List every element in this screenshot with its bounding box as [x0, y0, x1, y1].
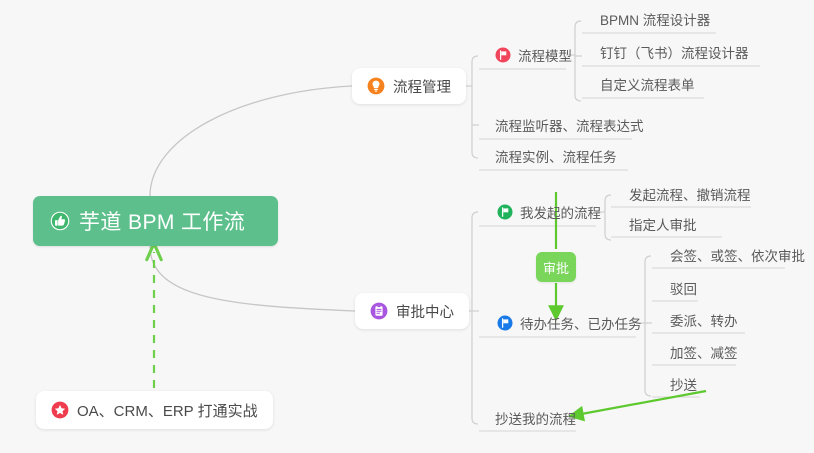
leaf-node-carbon-copy[interactable]: 抄送 — [662, 370, 706, 398]
mindmap-canvas: 芋道 BPM 工作流 流程管理 流程模型 BPMN 流程设计器 钉钉（飞书 — [0, 0, 814, 453]
thumbs-up-circle-icon — [50, 211, 70, 231]
leaf-node-delegate-transfer[interactable]: 委派、转办 — [662, 306, 747, 334]
flag-circle-icon — [497, 315, 513, 331]
star-circle-icon — [51, 401, 69, 419]
branch-node-label: 审批中心 — [396, 301, 454, 322]
branch-node-process-management[interactable]: 流程管理 — [352, 68, 466, 104]
leaf-node-custom-form[interactable]: 自定义流程表单 — [592, 70, 704, 98]
leaf-node-label: 自定义流程表单 — [600, 74, 695, 94]
leaf-node-process-model[interactable]: 流程模型 — [487, 41, 581, 69]
leaf-node-label: BPMN 流程设计器 — [600, 9, 710, 29]
leaf-node-reject[interactable]: 驳回 — [662, 274, 706, 302]
leaf-node-label: 流程模型 — [518, 45, 572, 65]
lightbulb-circle-icon — [367, 77, 385, 95]
clipboard-circle-icon — [370, 302, 388, 320]
leaf-node-label: 驳回 — [670, 278, 697, 298]
tag-node-label: 审批 — [543, 258, 569, 277]
root-node[interactable]: 芋道 BPM 工作流 — [33, 196, 278, 246]
leaf-node-cc-to-me-process[interactable]: 抄送我的流程 — [487, 404, 585, 432]
leaf-node-todo-done-tasks[interactable]: 待办任务、已办任务 — [489, 309, 651, 337]
leaf-node-add-remove-sign[interactable]: 加签、减签 — [662, 338, 747, 366]
leaf-node-label: 流程监听器、流程表达式 — [495, 115, 644, 135]
callout-node-integration[interactable]: OA、CRM、ERP 打通实战 — [36, 391, 273, 429]
leaf-node-bpmn-designer[interactable]: BPMN 流程设计器 — [592, 5, 719, 33]
leaf-node-assignee-approval[interactable]: 指定人审批 — [621, 210, 706, 238]
leaf-node-label: 钉钉（飞书）流程设计器 — [600, 42, 749, 62]
leaf-node-my-initiated-process[interactable]: 我发起的流程 — [489, 198, 610, 226]
tag-node-approval[interactable]: 审批 — [536, 252, 576, 282]
root-node-label: 芋道 BPM 工作流 — [79, 206, 245, 236]
flag-circle-icon — [497, 204, 513, 220]
leaf-node-label: 抄送 — [670, 374, 697, 394]
flag-circle-icon — [495, 47, 511, 63]
leaf-node-process-instance[interactable]: 流程实例、流程任务 — [487, 142, 626, 170]
leaf-node-label: 委派、转办 — [670, 310, 738, 330]
leaf-node-label: 发起流程、撤销流程 — [629, 184, 751, 204]
callout-node-label: OA、CRM、ERP 打通实战 — [77, 400, 258, 421]
leaf-node-label: 我发起的流程 — [520, 202, 601, 222]
leaf-node-start-cancel-process[interactable]: 发起流程、撤销流程 — [621, 180, 760, 208]
leaf-node-label: 加签、减签 — [670, 342, 738, 362]
leaf-node-countersign[interactable]: 会签、或签、依次审批 — [662, 241, 814, 269]
leaf-node-label: 流程实例、流程任务 — [495, 146, 617, 166]
leaf-node-label: 指定人审批 — [629, 214, 697, 234]
branch-node-label: 流程管理 — [393, 76, 451, 97]
branch-node-approval-center[interactable]: 审批中心 — [355, 293, 469, 329]
leaf-node-label: 会签、或签、依次审批 — [670, 245, 805, 265]
leaf-node-label: 抄送我的流程 — [495, 408, 576, 428]
leaf-node-dingtalk-designer[interactable]: 钉钉（飞书）流程设计器 — [592, 38, 758, 66]
leaf-node-label: 待办任务、已办任务 — [520, 313, 642, 333]
leaf-node-process-listener[interactable]: 流程监听器、流程表达式 — [487, 111, 653, 139]
